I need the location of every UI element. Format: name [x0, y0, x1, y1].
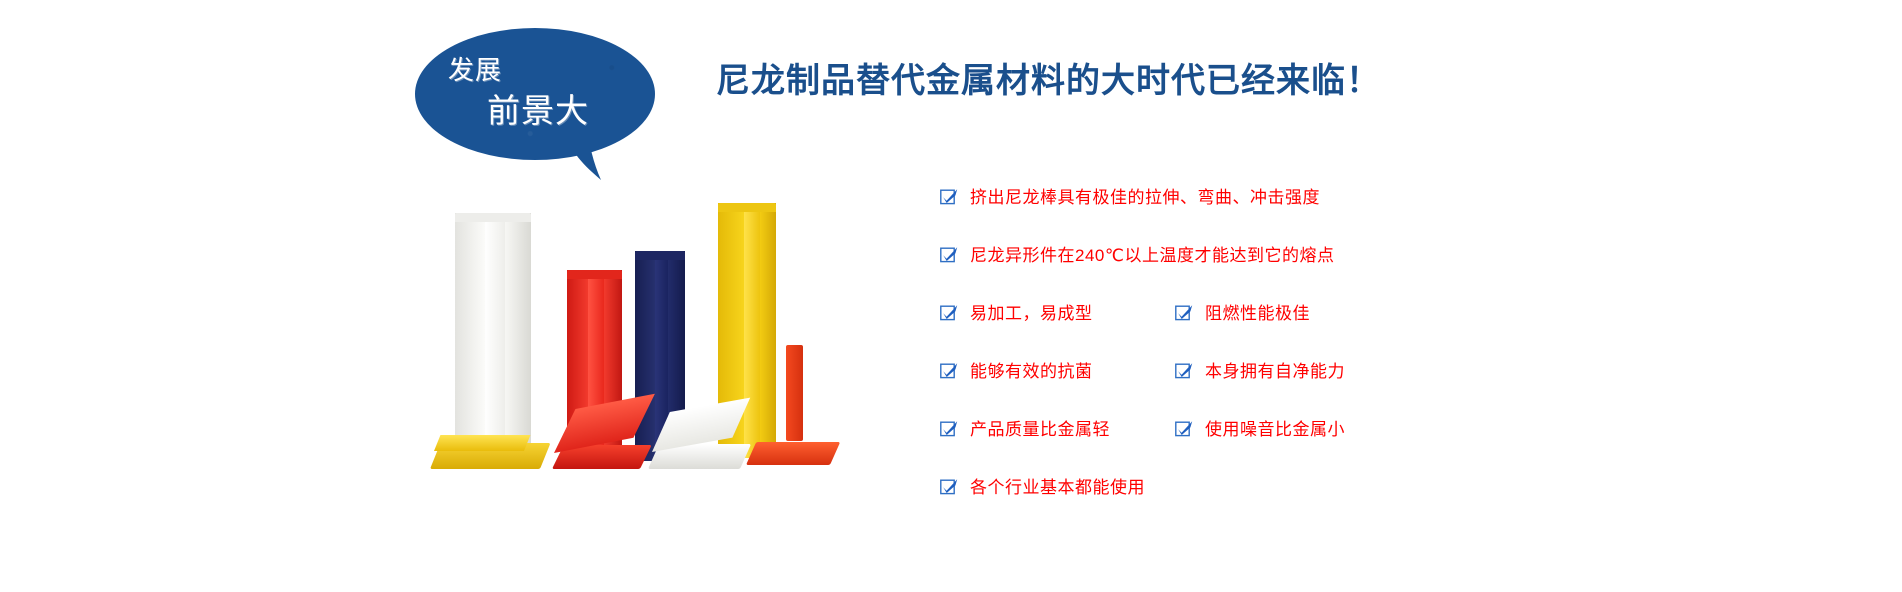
white-l-bracket — [648, 391, 743, 469]
feature-row: 尼龙异形件在240℃以上温度才能达到它的熔点 — [940, 246, 1500, 304]
orange-l-bracket — [740, 345, 830, 469]
nylon-extruded-profiles-photo — [430, 195, 830, 470]
checkbox-checked-icon — [1175, 362, 1193, 380]
red-l-bracket — [552, 395, 642, 469]
checkbox-checked-icon — [1175, 420, 1193, 438]
feature-label: 挤出尼龙棒具有极佳的拉伸、弯曲、冲击强度 — [970, 189, 1320, 206]
feature-row: 产品质量比金属轻 使用噪音比金属小 — [940, 420, 1500, 478]
checkbox-checked-icon — [940, 478, 958, 496]
page-title: 尼龙制品替代金属材料的大时代已经来临！ — [716, 53, 1381, 102]
feature-item: 尼龙异形件在240℃以上温度才能达到它的熔点 — [940, 246, 1334, 264]
feature-label: 使用噪音比金属小 — [1205, 421, 1345, 438]
feature-item: 挤出尼龙棒具有极佳的拉伸、弯曲、冲击强度 — [940, 188, 1320, 206]
feature-item: 能够有效的抗菌 — [940, 362, 1093, 380]
feature-label: 各个行业基本都能使用 — [970, 479, 1145, 496]
yellow-l-bracket — [430, 391, 540, 469]
feature-label: 阻燃性能极佳 — [1205, 305, 1310, 322]
feature-label: 易加工，易成型 — [970, 305, 1093, 322]
checkbox-checked-icon — [940, 362, 958, 380]
bubble-text-line-1: 发展 — [448, 50, 502, 87]
feature-label: 尼龙异形件在240℃以上温度才能达到它的熔点 — [970, 247, 1334, 264]
feature-row: 易加工，易成型 阻燃性能极佳 — [940, 304, 1500, 362]
feature-item: 易加工，易成型 — [940, 304, 1093, 322]
feature-row: 各个行业基本都能使用 — [940, 478, 1500, 536]
checkbox-checked-icon — [940, 304, 958, 322]
feature-row: 挤出尼龙棒具有极佳的拉伸、弯曲、冲击强度 — [940, 188, 1500, 246]
bubble-text-line-2: 前景大 — [487, 84, 589, 132]
feature-item: 本身拥有自净能力 — [1175, 362, 1345, 380]
feature-label: 产品质量比金属轻 — [970, 421, 1110, 438]
promo-banner: 发展 前景大 尼龙制品替代金属材料的大时代已经来临！ — [0, 0, 1902, 592]
feature-item: 使用噪音比金属小 — [1175, 420, 1345, 438]
checkbox-checked-icon — [940, 188, 958, 206]
feature-checklist: 挤出尼龙棒具有极佳的拉伸、弯曲、冲击强度 尼龙异形件在240℃以上温度才能达到它… — [940, 188, 1500, 536]
checkbox-checked-icon — [940, 420, 958, 438]
feature-label: 能够有效的抗菌 — [970, 363, 1093, 380]
checkbox-checked-icon — [1175, 304, 1193, 322]
feature-item: 阻燃性能极佳 — [1175, 304, 1310, 322]
feature-item: 产品质量比金属轻 — [940, 420, 1110, 438]
speech-bubble: 发展 前景大 — [415, 28, 665, 193]
feature-item: 各个行业基本都能使用 — [940, 478, 1145, 496]
feature-label: 本身拥有自净能力 — [1205, 363, 1345, 380]
feature-row: 能够有效的抗菌 本身拥有自净能力 — [940, 362, 1500, 420]
checkbox-checked-icon — [940, 246, 958, 264]
